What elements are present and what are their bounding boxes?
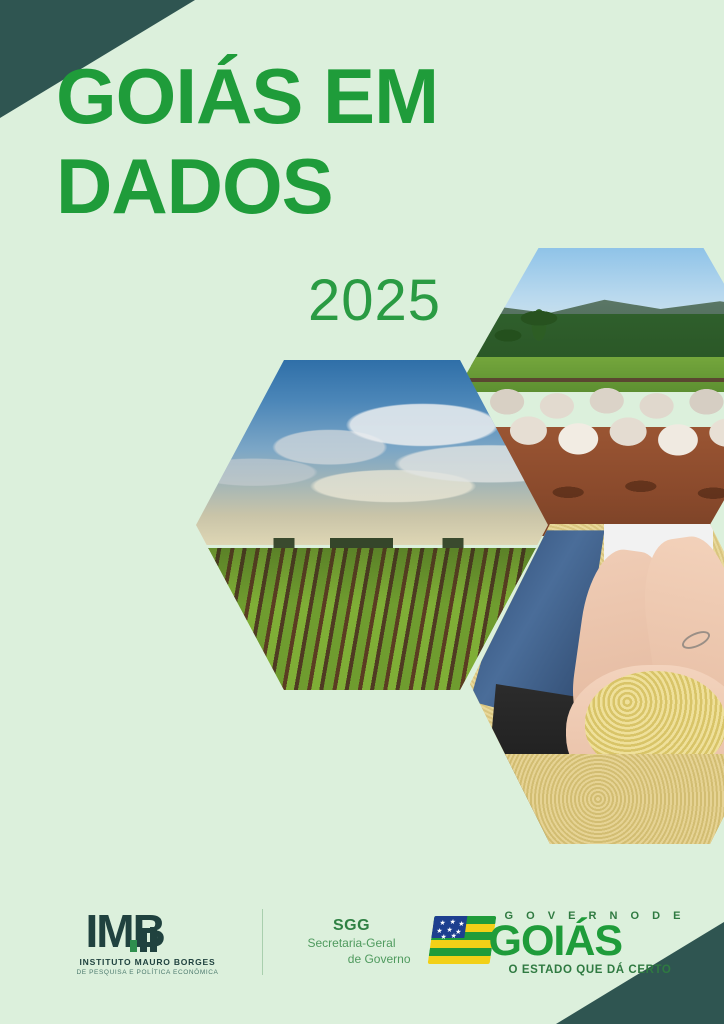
flag-star: ★ bbox=[439, 934, 446, 941]
cover-year: 2025 bbox=[308, 272, 441, 330]
logo-governo-de-goias: ★ ★ ★ ★ ★ ★ ★ ★ G O V E R N O D E GOIÁS … bbox=[427, 902, 677, 982]
photo-horizon-treeline bbox=[196, 538, 548, 548]
footer-logo-bar: IMB INSTITUTO MAURO BORGES DE PESQUISA E… bbox=[0, 894, 724, 990]
sgg-abbreviation: SGG bbox=[277, 917, 427, 935]
logo-sgg: SGG Secretaria-Geral de Governo bbox=[277, 917, 427, 967]
sgg-name-line-1: Secretaria-Geral bbox=[277, 935, 427, 951]
flag-star: ★ bbox=[450, 933, 457, 940]
imb-institute-name: INSTITUTO MAURO BORGES bbox=[80, 957, 216, 967]
governo-wordmark: GOIÁS bbox=[489, 920, 623, 963]
cover-title-line-2: DADOS bbox=[56, 148, 616, 224]
imb-institute-subtitle: DE PESQUISA E POLÍTICA ECONÔMICA bbox=[76, 969, 218, 976]
cover-title-block: GOIÁS EM DADOS bbox=[56, 58, 616, 225]
logo-imb: IMB INSTITUTO MAURO BORGES DE PESQUISA E… bbox=[48, 908, 248, 976]
flag-star: ★ bbox=[457, 921, 464, 928]
photo-grain-pile bbox=[470, 754, 724, 844]
goias-flag-icon: ★ ★ ★ ★ ★ ★ ★ ★ bbox=[427, 916, 496, 964]
imb-bar-chart-icon bbox=[130, 922, 172, 952]
footer-divider-1 bbox=[262, 909, 263, 975]
flag-star: ★ bbox=[448, 919, 455, 926]
cover-title-line-1: GOIÁS EM bbox=[56, 58, 616, 134]
flag-canton: ★ ★ ★ ★ ★ ★ ★ ★ bbox=[431, 916, 468, 938]
governo-tagline: O ESTADO QUE DÁ CERTO bbox=[509, 964, 672, 976]
flag-star: ★ bbox=[438, 920, 445, 927]
publication-cover: GOIÁS EM DADOS 2025 bbox=[0, 0, 724, 1024]
sgg-name-line-2: de Governo bbox=[277, 951, 427, 967]
imb-logomark: IMB bbox=[86, 908, 210, 954]
